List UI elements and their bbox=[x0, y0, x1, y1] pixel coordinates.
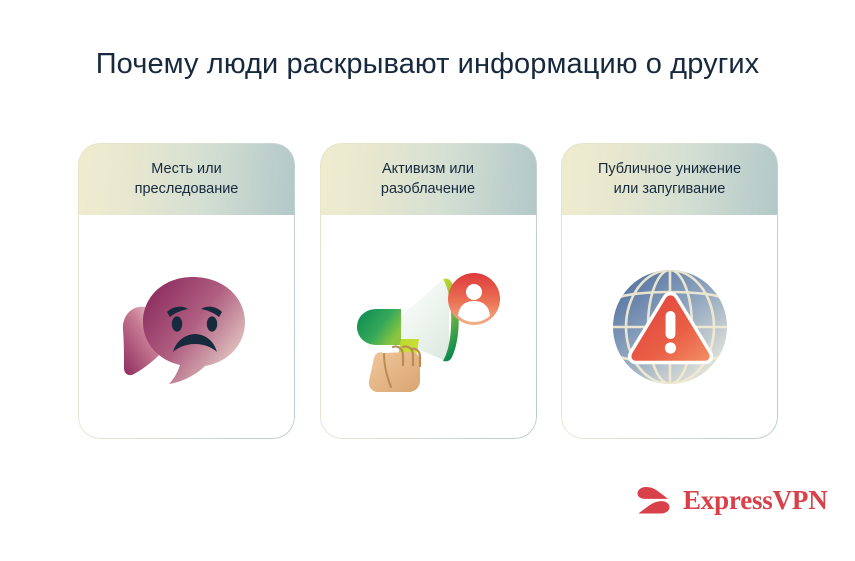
card-heading-text: Публичное унижение или запугивание bbox=[590, 159, 749, 199]
card-header: Месть или преследование bbox=[78, 143, 295, 215]
card-body bbox=[78, 215, 295, 439]
card-heading-text: Активизм или разоблачение bbox=[373, 159, 483, 199]
angry-speech-bubble-icon bbox=[112, 257, 262, 397]
expressvpn-wordmark: ExpressVPN bbox=[683, 487, 828, 514]
card-heading-text: Месть или преследование bbox=[127, 159, 247, 199]
card-body bbox=[320, 215, 537, 439]
card-public-humiliation-or-intimidation[interactable]: Публичное унижение или запугивание bbox=[561, 143, 778, 439]
infographic-page: Почему люди раскрывают информацию о друг… bbox=[0, 0, 855, 561]
card-row: Месть или преследование bbox=[78, 143, 778, 439]
megaphone-icon bbox=[353, 257, 503, 397]
card-header: Активизм или разоблачение bbox=[320, 143, 537, 215]
card-header: Публичное унижение или запугивание bbox=[561, 143, 778, 215]
globe-warning-icon bbox=[595, 257, 745, 397]
page-title: Почему люди раскрывают информацию о друг… bbox=[0, 48, 855, 81]
expressvpn-logo-mark bbox=[637, 484, 674, 517]
card-body bbox=[561, 215, 778, 439]
card-revenge-or-harassment[interactable]: Месть или преследование bbox=[78, 143, 295, 439]
card-activism-or-exposure[interactable]: Активизм или разоблачение bbox=[320, 143, 537, 439]
expressvpn-logo: ExpressVPN bbox=[637, 484, 828, 517]
